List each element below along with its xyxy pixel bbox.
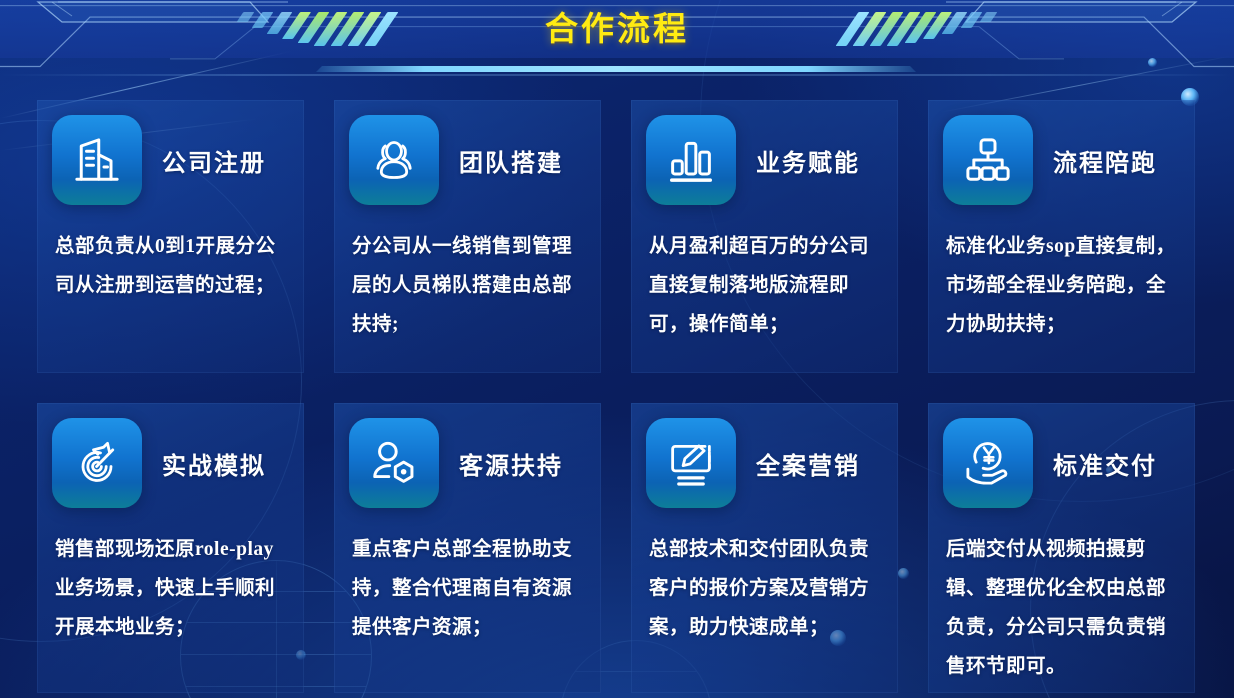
- card-body: 总部技术和交付团队负责客户的报价方案及营销方案，助力快速成单；: [631, 508, 898, 647]
- card-body: 标准化业务sop直接复制，市场部全程业务陪跑，全力协助扶持；: [928, 205, 1195, 344]
- page-title: 合作流程: [545, 2, 689, 50]
- icon-tile: [52, 418, 142, 508]
- icon-tile: [349, 115, 439, 205]
- card-header: 客源扶持: [334, 403, 601, 508]
- icon-tile: [943, 418, 1033, 508]
- process-card[interactable]: 团队搭建 分公司从一线销售到管理层的人员梯队搭建由总部扶持;: [334, 100, 601, 373]
- card-title: 流程陪跑: [1053, 143, 1157, 178]
- card-header: 标准交付: [928, 403, 1195, 508]
- banner-accent-bar: [316, 66, 916, 72]
- card-title: 客源扶持: [459, 446, 563, 481]
- card-header: 团队搭建: [334, 100, 601, 205]
- process-card[interactable]: 实战模拟 销售部现场还原role-play业务场景，快速上手顺利开展本地业务；: [37, 403, 304, 693]
- building-icon: [69, 132, 125, 188]
- card-header: 流程陪跑: [928, 100, 1195, 205]
- icon-tile: [646, 418, 736, 508]
- bar-chart-icon: [663, 132, 719, 188]
- target-arrow-icon: [69, 435, 125, 491]
- card-body: 从月盈利超百万的分公司直接复制落地版流程即可，操作简单；: [631, 205, 898, 344]
- page-title-wrap: 合作流程: [0, 2, 1234, 50]
- process-card[interactable]: 全案营销 总部技术和交付团队负责客户的报价方案及营销方案，助力快速成单；: [631, 403, 898, 693]
- icon-tile: [52, 115, 142, 205]
- card-title: 标准交付: [1053, 446, 1157, 481]
- process-card[interactable]: 客源扶持 重点客户总部全程协助支持，整合代理商自有资源提供客户资源；: [334, 403, 601, 693]
- hand-yuan-icon: [960, 435, 1016, 491]
- process-card[interactable]: 流程陪跑 标准化业务sop直接复制，市场部全程业务陪跑，全力协助扶持；: [928, 100, 1195, 373]
- header-banner: 合作流程: [0, 0, 1234, 84]
- card-body: 总部负责从0到1开展分公司从注册到运营的过程；: [37, 205, 304, 305]
- card-header: 公司注册: [37, 100, 304, 205]
- document-pen-icon: [663, 435, 719, 491]
- card-title: 公司注册: [162, 143, 266, 178]
- card-body: 后端交付从视频拍摄剪辑、整理优化全权由总部负责，分公司只需负责销售环节即可。: [928, 508, 1195, 686]
- process-card-grid: 公司注册 总部负责从0到1开展分公司从注册到运营的过程； 团队搭建 分公司从一线…: [37, 100, 1197, 693]
- card-title: 团队搭建: [459, 143, 563, 178]
- card-title: 全案营销: [756, 446, 860, 481]
- card-header: 业务赋能: [631, 100, 898, 205]
- process-card[interactable]: 业务赋能 从月盈利超百万的分公司直接复制落地版流程即可，操作简单；: [631, 100, 898, 373]
- card-body: 销售部现场还原role-play业务场景，快速上手顺利开展本地业务；: [37, 508, 304, 647]
- card-title: 业务赋能: [756, 143, 860, 178]
- card-title: 实战模拟: [162, 446, 266, 481]
- icon-tile: [646, 115, 736, 205]
- team-group-icon: [366, 132, 422, 188]
- slide-canvas: 合作流程 公司注册 总部负责从0到1开展分公司从注册到运营的过: [0, 0, 1234, 698]
- process-card[interactable]: 标准交付 后端交付从视频拍摄剪辑、整理优化全权由总部负责，分公司只需负责销售环节…: [928, 403, 1195, 693]
- process-card[interactable]: 公司注册 总部负责从0到1开展分公司从注册到运营的过程；: [37, 100, 304, 373]
- card-body: 重点客户总部全程协助支持，整合代理商自有资源提供客户资源；: [334, 508, 601, 647]
- card-header: 实战模拟: [37, 403, 304, 508]
- icon-tile: [349, 418, 439, 508]
- banner-underline: [0, 74, 1234, 76]
- customer-resource-icon: [366, 435, 422, 491]
- org-chart-icon: [960, 132, 1016, 188]
- card-header: 全案营销: [631, 403, 898, 508]
- card-body: 分公司从一线销售到管理层的人员梯队搭建由总部扶持;: [334, 205, 601, 344]
- icon-tile: [943, 115, 1033, 205]
